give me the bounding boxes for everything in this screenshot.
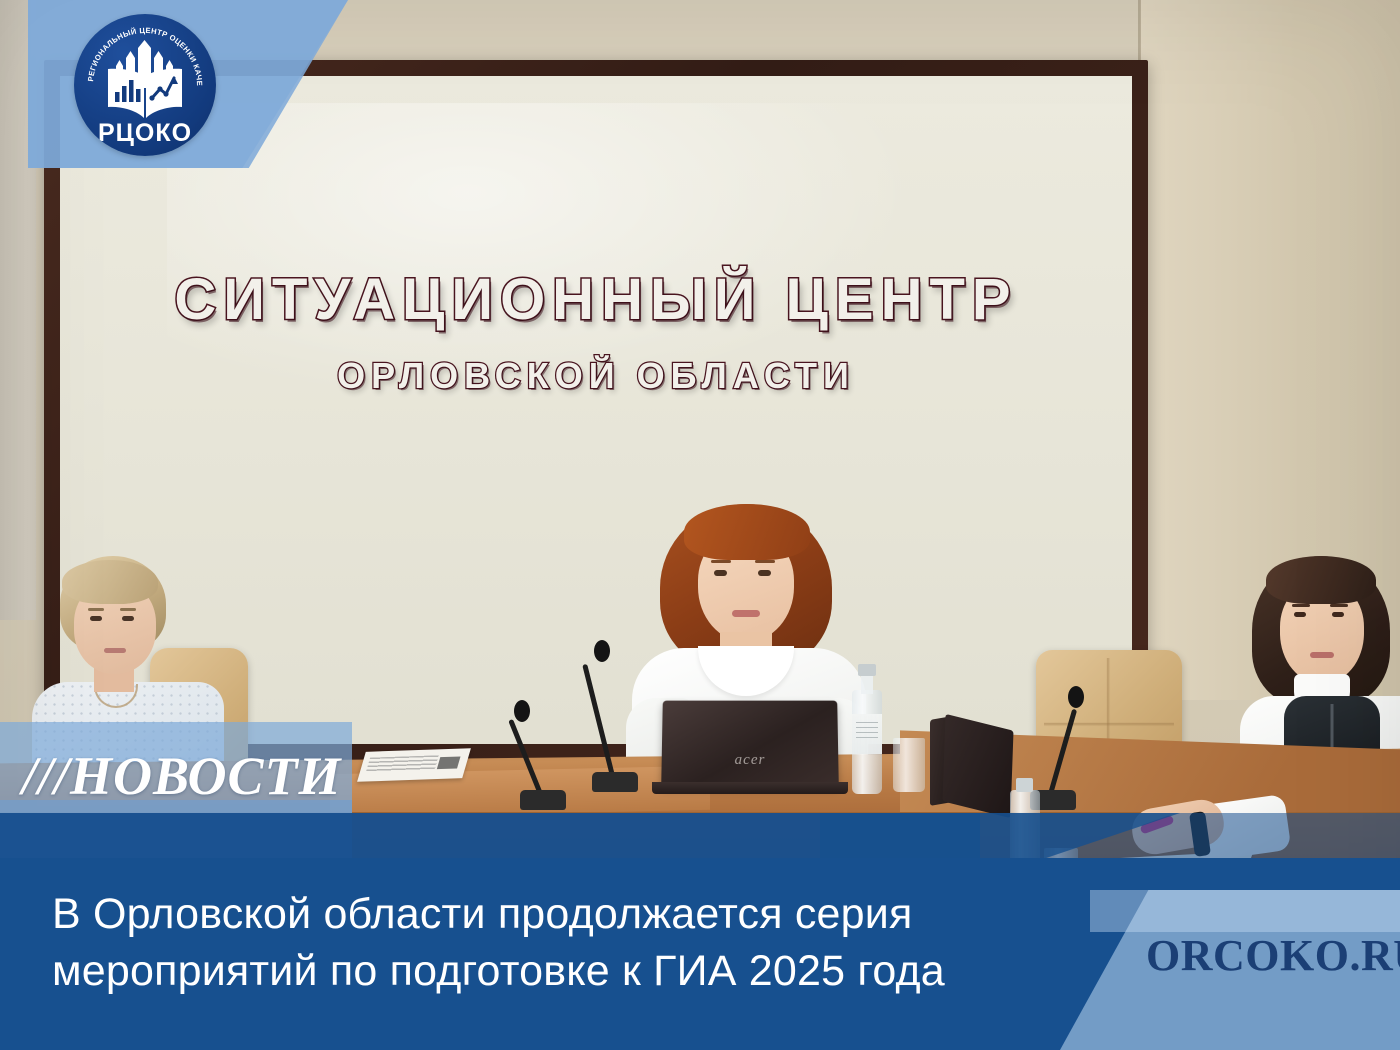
person-left-fringe	[62, 560, 158, 604]
eyebrow	[1292, 604, 1310, 607]
eyebrow	[711, 560, 731, 563]
eyebrow	[755, 560, 775, 563]
water-bottle-cap	[858, 664, 876, 676]
rcoko-logo[interactable]: РЕГИОНАЛЬНЫЙ ЦЕНТР ОЦЕНКИ КАЧЕСТВА ОБРАЗ…	[74, 14, 216, 156]
site-url-backdrop-top	[1090, 890, 1400, 932]
eye	[1294, 612, 1306, 617]
svg-text:РЦОКО: РЦОКО	[98, 119, 192, 147]
document-text-lines	[366, 755, 439, 771]
news-card: СИТУАЦИОННЫЙ ЦЕНТР ОРЛОВСКОЙ ОБЛАСТИ	[0, 0, 1400, 1050]
eye	[758, 570, 771, 576]
site-url[interactable]: ORCOKO.RU	[1146, 930, 1400, 981]
eye	[122, 616, 134, 621]
water-bottle-second-cap	[1016, 778, 1033, 792]
eyebrow	[1330, 604, 1348, 607]
eye	[1332, 612, 1344, 617]
headline: В Орловской области продолжается серия м…	[52, 886, 1062, 1000]
eye	[90, 616, 102, 621]
sign-title: СИТУАЦИОННЫЙ ЦЕНТР	[60, 266, 1132, 333]
sign-subtitle: ОРЛОВСКОЙ ОБЛАСТИ	[60, 355, 1132, 397]
document-mark	[437, 756, 461, 769]
laptop-secondary-body	[942, 714, 1013, 818]
eyebrow	[120, 608, 136, 611]
water-bottle-label	[852, 714, 882, 754]
microphone-base	[520, 790, 566, 810]
mouth	[732, 610, 760, 617]
laptop-brand-logo: acer	[735, 752, 766, 769]
mouth	[104, 648, 126, 653]
microphone-stem	[1048, 709, 1077, 795]
news-category-label: ///НОВОСТИ	[22, 745, 342, 807]
headline-line-2: мероприятий по подготовке к ГИА 2025 год…	[52, 943, 1062, 1000]
drinking-glass	[893, 738, 925, 792]
laptop: acer	[661, 701, 839, 787]
headline-line-1: В Орловской области продолжается серия	[52, 886, 1062, 943]
eye	[714, 570, 727, 576]
mouth	[1310, 652, 1334, 658]
person-center-fringe	[684, 504, 810, 560]
eyebrow	[88, 608, 104, 611]
person-right-fringe	[1266, 556, 1376, 604]
microphone-center	[592, 642, 652, 792]
situation-center-sign: СИТУАЦИОННЫЙ ЦЕНТР ОРЛОВСКОЙ ОБЛАСТИ	[60, 266, 1132, 397]
microphone-head	[514, 700, 530, 722]
microphone-base	[592, 772, 638, 792]
laptop-base	[652, 782, 848, 794]
microphone-head	[1068, 686, 1084, 708]
document-sheet	[357, 748, 471, 782]
microphone-head	[594, 640, 610, 662]
microphone-left	[520, 700, 580, 810]
